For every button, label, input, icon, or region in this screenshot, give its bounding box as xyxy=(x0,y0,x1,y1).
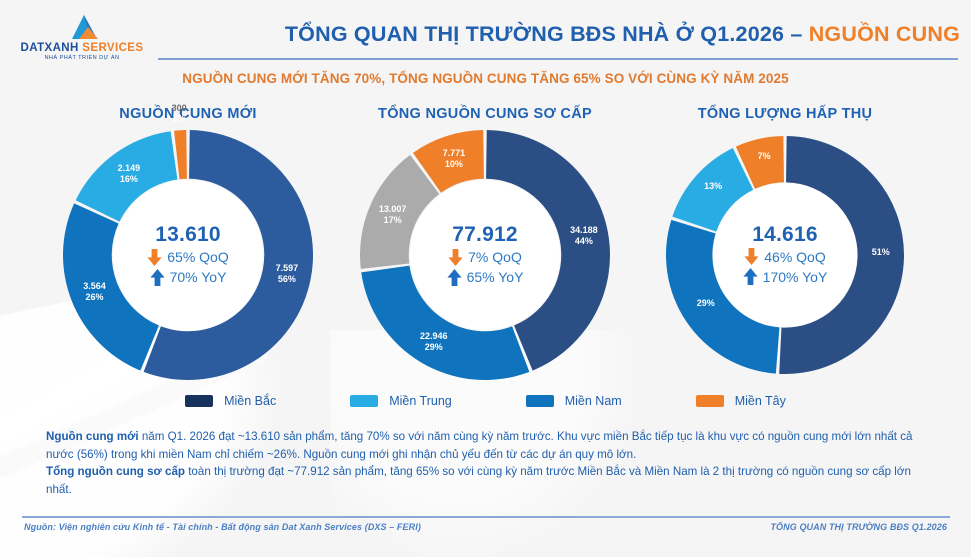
page-title-accent: NGUỒN CUNG xyxy=(809,22,960,46)
slice-label-1: 22.94629% xyxy=(394,331,474,353)
legend-swatch-icon xyxy=(526,395,554,407)
up-arrow-icon xyxy=(150,269,165,286)
chart-nguon-cung-moi: NGUỒN CUNG MỚI 7.59756%3.56426%2.14916%3… xyxy=(28,104,348,389)
center-total-value: 13.610 xyxy=(155,223,220,247)
summary-paragraph-2: Tổng nguồn cung sơ cấp toàn thị trường đ… xyxy=(46,463,930,498)
summary-p1-body: năm Q1. 2026 đạt ~13.610 sản phẩm, tăng … xyxy=(46,430,913,461)
center-metric-1: 65% YoY xyxy=(447,267,524,287)
slide-header: DATXANH SERVICES NHÀ PHÁT TRIỂN DỰ ÁN TỔ… xyxy=(0,0,971,66)
center-metric-1: 70% YoY xyxy=(150,267,227,287)
legend-item-0[interactable]: Miền Bắc xyxy=(185,394,276,408)
legend-swatch-icon xyxy=(350,395,378,407)
charts-row: NGUỒN CUNG MỚI 7.59756%3.56426%2.14916%3… xyxy=(0,104,971,389)
footer-deck-label: TỔNG QUAN THỊ TRƯỜNG BĐS Q1.2026 xyxy=(770,522,947,532)
center-metric-label: 46% QoQ xyxy=(764,247,825,267)
slice-label-3: 3002% xyxy=(139,103,219,124)
summary-p1-lead: Nguồn cung mới xyxy=(46,430,139,443)
up-arrow-icon xyxy=(447,269,462,286)
center-metric-label: 170% YoY xyxy=(763,267,828,287)
legend-item-3[interactable]: Miền Tây xyxy=(696,394,786,408)
center-total-value: 77.912 xyxy=(452,223,517,247)
slice-value: 22.946 xyxy=(394,331,474,342)
chart-tong-luong-hap-thu: TỔNG LƯỢNG HẤP THỤ 51%29%13%7%14.61646% … xyxy=(625,104,945,389)
summary-paragraph-1: Nguồn cung mới năm Q1. 2026 đạt ~13.610 … xyxy=(46,428,930,463)
brand-tagline: NHÀ PHÁT TRIỂN DỰ ÁN xyxy=(18,55,146,61)
chart-tong-nguon-cung-so-cap: TỔNG NGUỒN CUNG SƠ CẤP 34.18844%22.94629… xyxy=(325,104,645,389)
legend-swatch-icon xyxy=(696,395,724,407)
brand-logo: DATXANH SERVICES NHÀ PHÁT TRIỂN DỰ ÁN xyxy=(18,14,146,66)
legend-item-2[interactable]: Miền Nam xyxy=(526,394,622,408)
center-metric-0: 65% QoQ xyxy=(147,247,228,267)
legend-swatch-icon xyxy=(185,395,213,407)
donut-center-hub: 14.61646% QoQ170% YoY xyxy=(713,183,856,326)
legend-label: Miền Nam xyxy=(565,394,622,408)
slide-canvas: DATXANH SERVICES NHÀ PHÁT TRIỂN DỰ ÁN TỔ… xyxy=(0,0,971,557)
slice-percent: 10% xyxy=(414,159,494,170)
slice-value: 13.007 xyxy=(353,204,433,215)
slice-label-3: 7.77110% xyxy=(414,148,494,170)
page-title: TỔNG QUAN THỊ TRƯỜNG BĐS NHÀ Ở Q1.2026 –… xyxy=(160,22,960,47)
center-metric-label: 70% YoY xyxy=(170,267,227,287)
header-divider xyxy=(158,58,958,60)
mountain-peak-icon xyxy=(64,14,106,42)
page-subtitle: NGUỒN CUNG MỚI TĂNG 70%, TỔNG NGUỒN CUNG… xyxy=(0,71,971,86)
slice-percent: 26% xyxy=(54,292,134,303)
donut-chart: 7.59756%3.56426%2.14916%3002%13.61065% Q… xyxy=(63,130,313,380)
legend-label: Miền Trung xyxy=(389,394,452,408)
legend-label: Miền Tây xyxy=(735,394,786,408)
footer-divider xyxy=(22,516,950,518)
slice-percent: 2% xyxy=(139,113,219,124)
center-total-value: 14.616 xyxy=(752,223,817,247)
brand-wordmark: DATXANH SERVICES xyxy=(18,42,146,54)
slice-percent: 16% xyxy=(89,174,169,185)
slice-percent: 7% xyxy=(724,151,804,162)
center-metric-0: 7% QoQ xyxy=(448,247,522,267)
slice-label-2: 2.14916% xyxy=(89,163,169,185)
donut-center-hub: 13.61065% QoQ70% YoY xyxy=(113,180,264,331)
up-arrow-icon xyxy=(743,268,758,285)
down-arrow-icon xyxy=(147,249,162,266)
summary-p2-lead: Tổng nguồn cung sơ cấp xyxy=(46,465,185,478)
center-metric-label: 65% QoQ xyxy=(167,247,228,267)
chart-title: TỔNG NGUỒN CUNG SƠ CẤP xyxy=(325,106,645,122)
center-metric-1: 170% YoY xyxy=(743,267,828,287)
slice-percent: 13% xyxy=(673,181,753,192)
chart-legend: Miền BắcMiền TrungMiền NamMiền Tây xyxy=(0,388,971,414)
summary-text: Nguồn cung mới năm Q1. 2026 đạt ~13.610 … xyxy=(46,428,930,498)
page-title-main: TỔNG QUAN THỊ TRƯỜNG BĐS NHÀ Ở Q1.2026 – xyxy=(285,22,809,46)
slice-value: 7.771 xyxy=(414,148,494,159)
slice-percent: 29% xyxy=(394,342,474,353)
slice-value: 2.149 xyxy=(89,163,169,174)
donut-chart: 51%29%13%7%14.61646% QoQ170% YoY xyxy=(666,136,904,374)
donut-center-hub: 77.9127% QoQ65% YoY xyxy=(410,180,561,331)
slice-label-3: 7% xyxy=(724,151,804,162)
slice-label-2: 13% xyxy=(673,181,753,192)
down-arrow-icon xyxy=(448,249,463,266)
chart-title: TỔNG LƯỢNG HẤP THỤ xyxy=(625,106,945,122)
legend-label: Miền Bắc xyxy=(224,394,276,408)
brand-name-second: SERVICES xyxy=(79,42,144,54)
center-metric-label: 65% YoY xyxy=(467,267,524,287)
footer-source: Nguồn: Viện nghiên cứu Kinh tế - Tài chí… xyxy=(24,522,421,532)
donut-chart: 34.18844%22.94629%13.00717%7.77110%77.91… xyxy=(360,130,610,380)
down-arrow-icon xyxy=(744,248,759,265)
center-metric-label: 7% QoQ xyxy=(468,247,522,267)
legend-item-1[interactable]: Miền Trung xyxy=(350,394,452,408)
center-metric-0: 46% QoQ xyxy=(744,247,825,267)
brand-name-first: DATXANH xyxy=(21,42,79,54)
